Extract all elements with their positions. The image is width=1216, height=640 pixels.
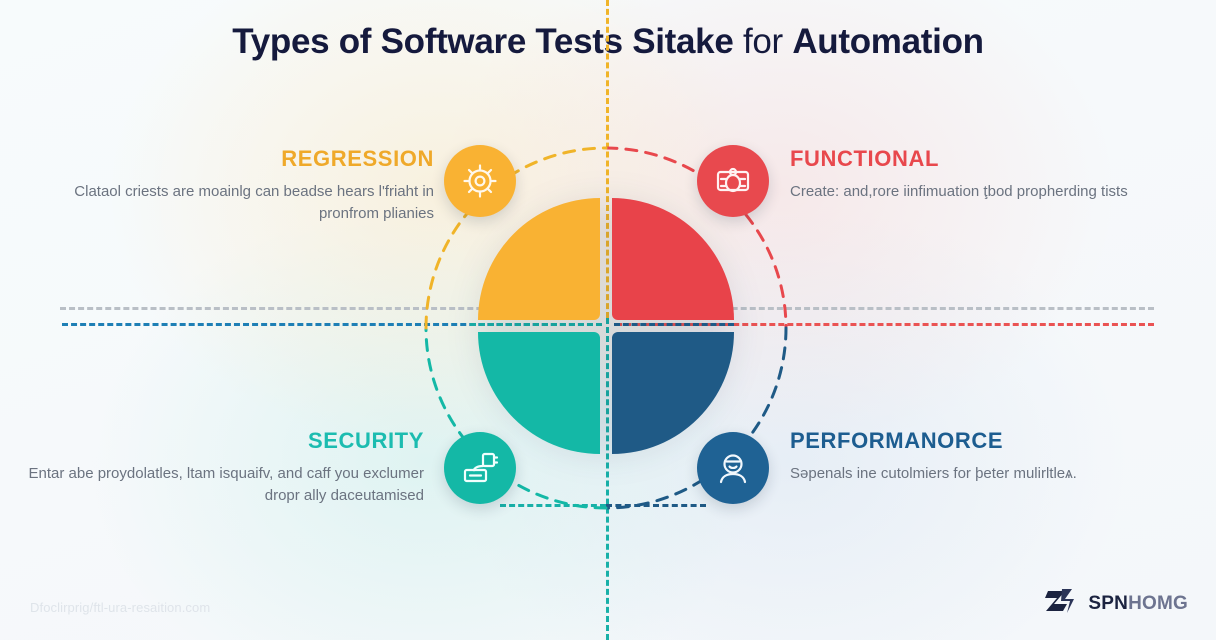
functional-icon-badge [697, 145, 769, 217]
quadrant-label-regression: REGRESSION [30, 146, 434, 172]
z-monogram-icon [1045, 588, 1079, 619]
title-part2: Sitake [632, 22, 733, 61]
pie-wedge-regression [478, 198, 600, 320]
quadrant-desc-functional: Create: and,rore iinfimuation ţbod proph… [790, 181, 1190, 203]
performance-icon-badge [697, 432, 769, 504]
brand-logo-text-light: HOMG [1128, 593, 1188, 614]
quadrant-desc-security: Entar abe proydolatles, ltam isquaifv, a… [24, 463, 424, 507]
quadrant-label-performance: PERFORMANORCE [790, 428, 1190, 454]
pie-chart [478, 198, 734, 454]
security-icon-badge [444, 432, 516, 504]
quadrant-desc-performance: Sǝpenals ine cutolmiers for þeter mulirl… [790, 463, 1190, 485]
pie-wedge-functional [612, 198, 734, 320]
quadrant-desc-regression: Clataol criests are moainlg can beadse h… [30, 181, 434, 225]
bug-report-icon [713, 161, 753, 201]
quadrant-label-security: SECURITY [24, 428, 424, 454]
user-headset-icon [713, 448, 753, 488]
title-part4: Automation [792, 22, 983, 61]
brand-logo-text: SPNHOMG [1088, 593, 1188, 615]
quadrant-label-functional: FUNCTIONAL [790, 146, 1190, 172]
title-part3: for [734, 22, 793, 61]
brand-logo: SPNHOMG [1045, 588, 1188, 619]
regression-icon-badge [444, 145, 516, 217]
gear-icon [460, 161, 500, 201]
quadrant-performance: PERFORMANORCE Sǝpenals ine cutolmiers fo… [790, 428, 1190, 485]
quadrant-security: SECURITY Entar abe proydolatles, ltam is… [24, 428, 424, 507]
lock-plug-icon [460, 448, 500, 488]
brand-logo-text-bold: SPN [1088, 593, 1128, 614]
infographic-poster: Types of Software Tests Sitake for Autom… [0, 0, 1216, 640]
footer-url: Dfoclirprig/ftl-ura-resaition.com [30, 600, 210, 615]
quadrant-functional: FUNCTIONAL Create: and,rore iinfimuation… [790, 146, 1190, 203]
quadrant-regression: REGRESSION Clataol criests are moainlg c… [30, 146, 434, 225]
title-part1: Types of Software Tests [232, 22, 632, 61]
